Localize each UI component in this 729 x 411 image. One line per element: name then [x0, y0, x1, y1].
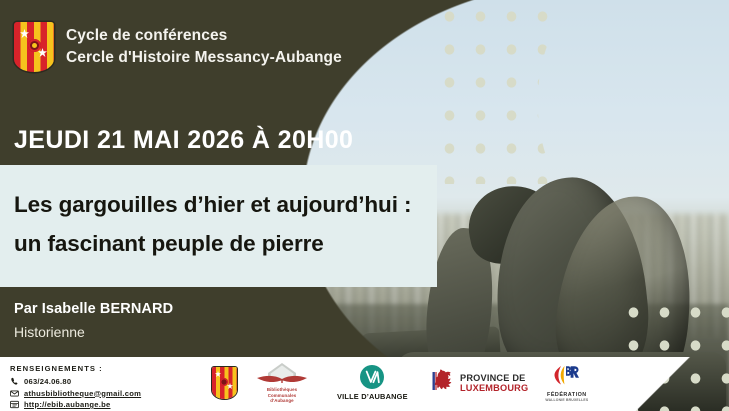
- contact-email-text[interactable]: athusbibliotheque@gmail.com: [24, 389, 141, 398]
- page-title: Les gargouilles d’hier et aujourd’hui : …: [14, 186, 411, 263]
- envelope-icon: [10, 389, 19, 398]
- fwb-emblem-icon: [545, 364, 588, 391]
- header-line-2: Cercle d'Histoire Messancy-Aubange: [66, 47, 342, 69]
- lion-icon: [430, 368, 456, 399]
- contact-block: RENSEIGNEMENTS : 063/24.06.80 athusbibli…: [10, 364, 141, 409]
- title-line-1: Les gargouilles d’hier et aujourd’hui :: [14, 186, 411, 225]
- conference-poster: Cycle de conférences Cercle d'Histoire M…: [0, 0, 729, 411]
- partner-logos: Bibliothèques Communales d'Aubange VILLE…: [212, 360, 607, 406]
- contact-phone-row: 063/24.06.80: [10, 377, 141, 386]
- browser-icon: [10, 400, 19, 409]
- messancy-aubange-coat-of-arms-icon: [14, 22, 54, 72]
- federation-wallonie-bruxelles-logo: FÉDÉRATION WALLONIE BRUXELLES: [545, 364, 607, 402]
- speaker-role: Historienne: [14, 324, 173, 340]
- contact-email-row[interactable]: athusbibliotheque@gmail.com: [10, 389, 141, 398]
- bibliotheques-communales-aubange-logo: Bibliothèques Communales d'Aubange: [254, 362, 320, 404]
- speaker-name: Par Isabelle BERNARD: [14, 301, 173, 317]
- ville-daubange-logo: VILLE D’AUBANGE: [337, 365, 413, 401]
- phone-icon: [10, 377, 19, 386]
- contact-website-row[interactable]: http://ebib.aubange.be: [10, 400, 141, 409]
- open-book-house-icon: [254, 362, 310, 386]
- contact-heading: RENSEIGNEMENTS :: [10, 364, 141, 373]
- poster-header: Cycle de conférences Cercle d'Histoire M…: [14, 22, 342, 72]
- ville-daubange-label: VILLE D’AUBANGE: [337, 392, 408, 401]
- contact-website-text[interactable]: http://ebib.aubange.be: [24, 400, 111, 409]
- va-monogram-icon: [360, 365, 384, 389]
- contact-phone-text: 063/24.06.80: [24, 377, 71, 386]
- province-de-luxembourg-logo: PROVINCE DE LUXEMBOURG: [430, 368, 528, 399]
- province-label: PROVINCE DE LUXEMBOURG: [460, 373, 528, 394]
- biblio-label: Bibliothèques Communales d'Aubange: [254, 387, 310, 404]
- header-text: Cycle de conférences Cercle d'Histoire M…: [66, 25, 342, 69]
- federation-label-2: WALLONIE BRUXELLES: [545, 398, 588, 402]
- messancy-aubange-crest-logo: [212, 367, 237, 399]
- crest-icon: [212, 367, 237, 399]
- title-line-2: un fascinant peuple de pierre: [14, 225, 411, 264]
- speaker-info: Par Isabelle BERNARD Historienne: [14, 301, 173, 340]
- header-line-1: Cycle de conférences: [66, 25, 342, 47]
- event-date: JEUDI 21 MAI 2026 À 20H00: [14, 126, 353, 155]
